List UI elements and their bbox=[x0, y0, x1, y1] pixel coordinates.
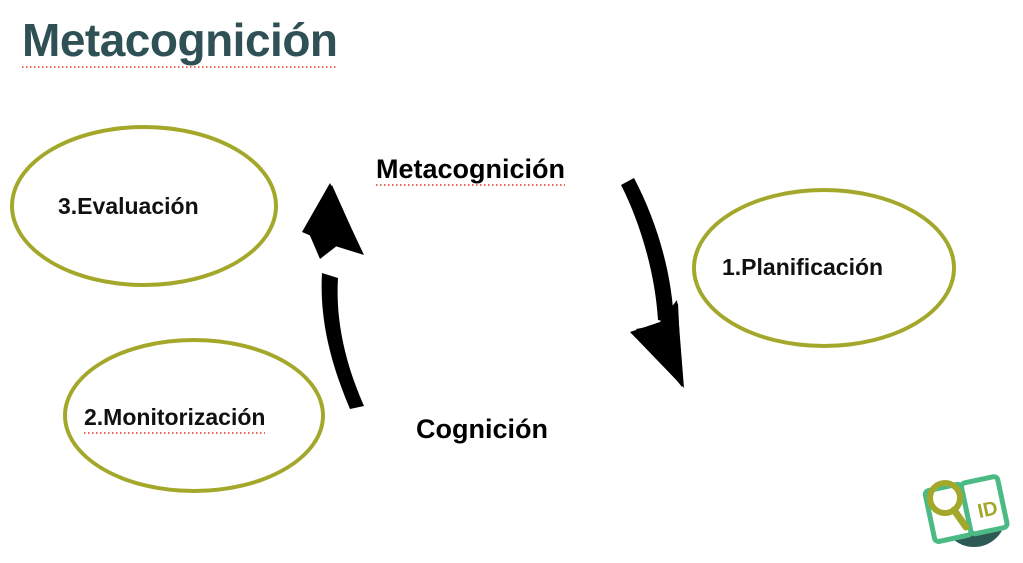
arrow-down-right-icon bbox=[620, 172, 710, 397]
arrow-up-left-icon bbox=[290, 175, 380, 415]
page-title-text: Metacognición bbox=[22, 14, 338, 69]
page-title: Metacognición bbox=[22, 14, 338, 67]
stage-label-metacognicion: Metacognición bbox=[376, 153, 565, 185]
slide-canvas: Metacognición 3.Evaluación 2.Monitorizac… bbox=[0, 0, 1023, 563]
node-monitorizacion-label: 2.Monitorización bbox=[84, 404, 265, 435]
node-planificacion-label: 1.Planificación bbox=[722, 254, 883, 282]
node-evaluacion-label: 3.Evaluación bbox=[58, 193, 199, 221]
stage-label-cognicion: Cognición bbox=[416, 413, 548, 445]
logo[interactable]: ID bbox=[919, 469, 1015, 557]
stage-label-metacognicion-text: Metacognición bbox=[376, 154, 565, 187]
